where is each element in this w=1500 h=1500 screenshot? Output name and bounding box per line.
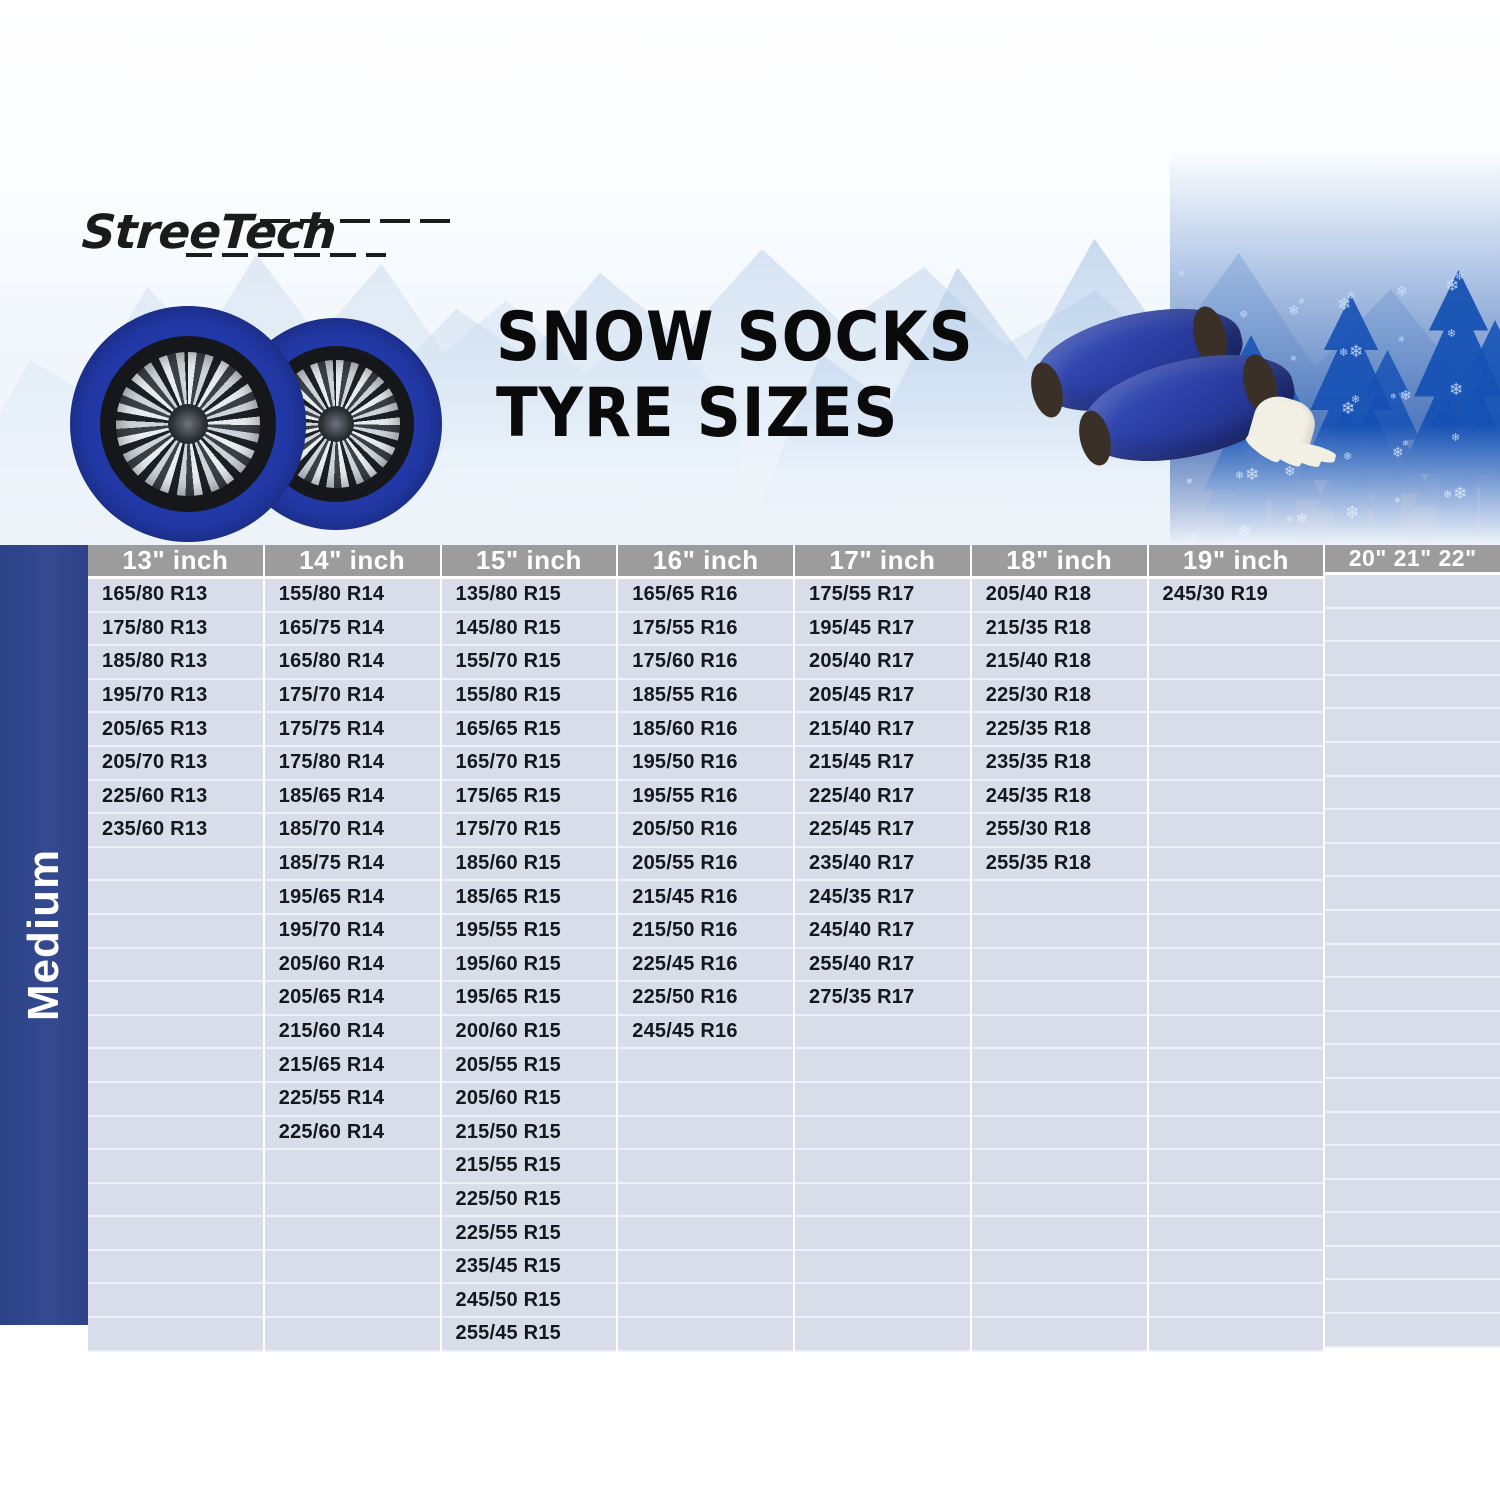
empty-cell (618, 1049, 793, 1083)
tyre-size-cell: 245/50 R15 (442, 1284, 617, 1318)
snowflake-icon: ❄ (1455, 272, 1464, 283)
tyre-size-cell: 195/70 R14 (265, 915, 440, 949)
tyre-size-cell: 235/35 R18 (972, 747, 1147, 781)
empty-cell (972, 915, 1147, 949)
tyre-size-cell: 205/70 R13 (88, 747, 263, 781)
tyre-size-cell: 205/45 R17 (795, 680, 970, 714)
tyre-size-cell: 175/55 R17 (795, 579, 970, 613)
tyre-size-cell: 225/60 R13 (88, 781, 263, 815)
tyre-size-cell: 255/35 R18 (972, 848, 1147, 882)
empty-cell (1325, 1247, 1500, 1281)
empty-cell (795, 1184, 970, 1218)
empty-cell (1149, 680, 1324, 714)
empty-cell (972, 881, 1147, 915)
tyre-size-cell: 245/45 R16 (618, 1016, 793, 1050)
tyre-size-cell: 195/55 R16 (618, 781, 793, 815)
empty-cell (1149, 1318, 1324, 1352)
empty-cell (88, 1217, 263, 1251)
table-column-6: 18" inch205/40 R18215/35 R18215/40 R1822… (972, 545, 1149, 1325)
empty-cell (265, 1150, 440, 1184)
empty-cell (795, 1318, 970, 1352)
tyre-size-cell: 175/80 R14 (265, 747, 440, 781)
column-header: 18" inch (972, 545, 1147, 579)
tyre-size-cell: 165/65 R16 (618, 579, 793, 613)
column-header: 15" inch (442, 545, 617, 579)
column-body: 245/30 R19 (1149, 579, 1324, 1352)
tyre-size-cell: 225/45 R17 (795, 814, 970, 848)
front-hub-icon (168, 404, 208, 444)
tyre-size-cell: 245/40 R17 (795, 915, 970, 949)
empty-cell (1325, 642, 1500, 676)
column-header: 14" inch (265, 545, 440, 579)
tyre-size-cell: 205/40 R17 (795, 646, 970, 680)
empty-cell (1325, 676, 1500, 710)
column-header: 19" inch (1149, 545, 1324, 579)
empty-cell (972, 1217, 1147, 1251)
tyre-size-cell: 215/40 R18 (972, 646, 1147, 680)
tyre-size-cell: 205/65 R14 (265, 982, 440, 1016)
empty-cell (972, 1318, 1147, 1352)
empty-cell (1149, 713, 1324, 747)
tyre-size-cell: 255/30 R18 (972, 814, 1147, 848)
empty-cell (1149, 1284, 1324, 1318)
empty-cell (1325, 709, 1500, 743)
tyre-size-cell: 275/35 R17 (795, 982, 970, 1016)
snow-socks-product-image (1030, 300, 1350, 485)
tyre-size-cell: 185/70 R14 (265, 814, 440, 848)
tyre-size-cell: 225/60 R14 (265, 1117, 440, 1151)
empty-cell (795, 1083, 970, 1117)
tyre-size-cell: 185/65 R15 (442, 881, 617, 915)
wheels-product-image (62, 300, 462, 545)
size-category-sidebar: Medium (0, 545, 88, 1325)
tyre-size-cell: 145/80 R15 (442, 613, 617, 647)
logo-dash-top-icon (260, 219, 450, 223)
tyre-size-cell: 215/50 R16 (618, 915, 793, 949)
empty-cell (618, 1184, 793, 1218)
tyre-size-table: Medium 13" inch165/80 R13175/80 R13185/8… (0, 545, 1500, 1325)
column-body (1325, 575, 1500, 1348)
tyre-size-cell: 185/55 R16 (618, 680, 793, 714)
empty-cell (972, 1184, 1147, 1218)
empty-cell (618, 1150, 793, 1184)
tyre-size-cell: 195/65 R15 (442, 982, 617, 1016)
column-body: 165/80 R13175/80 R13185/80 R13195/70 R13… (88, 579, 263, 1352)
title-line-2: TYRE SIZES (496, 376, 964, 452)
tyre-size-cell: 185/75 R14 (265, 848, 440, 882)
brand-logo: StreeTech (82, 205, 412, 267)
empty-cell (1149, 949, 1324, 983)
empty-cell (265, 1184, 440, 1218)
empty-cell (1325, 844, 1500, 878)
column-body: 155/80 R14165/75 R14165/80 R14175/70 R14… (265, 579, 440, 1352)
snow-socks-size-chart: ❄❄❄❄❄❄❄❄❄❄❄❄❄❄❄❄❄❄❄❄❄❄❄❄❄❄❄❄❄❄❄❄❄❄❄❄❄❄❄❄… (0, 0, 1500, 1500)
column-header: 13" inch (88, 545, 263, 579)
empty-cell (1325, 945, 1500, 979)
tyre-size-cell: 165/70 R15 (442, 747, 617, 781)
tyre-size-cell: 185/60 R15 (442, 848, 617, 882)
empty-cell (972, 1251, 1147, 1285)
tyre-size-cell: 165/75 R14 (265, 613, 440, 647)
title-line-1: SNOW SOCKS (496, 300, 964, 376)
empty-cell (88, 1150, 263, 1184)
tyre-size-cell: 225/50 R15 (442, 1184, 617, 1218)
table-column-1: 13" inch165/80 R13175/80 R13185/80 R1319… (88, 545, 265, 1325)
tyre-size-cell: 235/60 R13 (88, 814, 263, 848)
table-columns: 13" inch165/80 R13175/80 R13185/80 R1319… (88, 545, 1500, 1325)
tyre-size-cell: 175/70 R14 (265, 680, 440, 714)
empty-cell (1325, 810, 1500, 844)
tyre-size-cell: 185/65 R14 (265, 781, 440, 815)
empty-cell (1149, 1217, 1324, 1251)
table-column-3: 15" inch135/80 R15145/80 R15155/70 R1515… (442, 545, 619, 1325)
empty-cell (88, 1318, 263, 1352)
tyre-size-cell: 215/60 R14 (265, 1016, 440, 1050)
empty-cell (1325, 1280, 1500, 1314)
empty-cell (88, 1083, 263, 1117)
hero-banner: ❄❄❄❄❄❄❄❄❄❄❄❄❄❄❄❄❄❄❄❄❄❄❄❄❄❄❄❄❄❄❄❄❄❄❄❄❄❄❄❄… (0, 0, 1500, 545)
tyre-size-cell: 175/65 R15 (442, 781, 617, 815)
tyre-size-cell: 205/65 R13 (88, 713, 263, 747)
tyre-size-cell: 215/65 R14 (265, 1049, 440, 1083)
empty-cell (88, 1016, 263, 1050)
empty-cell (972, 1016, 1147, 1050)
tyre-size-cell: 200/60 R15 (442, 1016, 617, 1050)
tyre-size-cell: 205/55 R15 (442, 1049, 617, 1083)
tyre-size-cell: 155/80 R15 (442, 680, 617, 714)
empty-cell (1325, 777, 1500, 811)
empty-cell (795, 1150, 970, 1184)
empty-cell (265, 1284, 440, 1318)
snowflake-icon: ❄ (1396, 284, 1408, 298)
tyre-size-cell: 195/45 R17 (795, 613, 970, 647)
tyre-size-cell: 205/60 R14 (265, 949, 440, 983)
tyre-size-cell: 195/60 R15 (442, 949, 617, 983)
tyre-size-cell: 195/55 R15 (442, 915, 617, 949)
empty-cell (1149, 1184, 1324, 1218)
snowflake-icon: ❄ (1449, 381, 1463, 398)
tyre-size-cell: 225/55 R15 (442, 1217, 617, 1251)
tyre-size-cell: 175/60 R16 (618, 646, 793, 680)
tyre-size-cell: 255/40 R17 (795, 949, 970, 983)
column-header: 16" inch (618, 545, 793, 579)
empty-cell (618, 1117, 793, 1151)
tyre-size-cell: 195/70 R13 (88, 680, 263, 714)
tyre-size-cell: 205/55 R16 (618, 848, 793, 882)
empty-cell (88, 915, 263, 949)
tyre-size-cell: 195/50 R16 (618, 747, 793, 781)
tyre-size-cell: 225/40 R17 (795, 781, 970, 815)
tyre-size-cell: 245/30 R19 (1149, 579, 1324, 613)
tyre-size-cell: 225/45 R16 (618, 949, 793, 983)
table-column-5: 17" inch175/55 R17195/45 R17205/40 R1720… (795, 545, 972, 1325)
empty-cell (795, 1251, 970, 1285)
empty-cell (1325, 978, 1500, 1012)
empty-cell (1325, 1012, 1500, 1046)
empty-cell (972, 1049, 1147, 1083)
empty-cell (1325, 1180, 1500, 1214)
empty-cell (265, 1217, 440, 1251)
tyre-size-cell: 175/70 R15 (442, 814, 617, 848)
empty-cell (1149, 1016, 1324, 1050)
table-column-8: 20" 21" 22" (1325, 545, 1500, 1325)
empty-cell (88, 881, 263, 915)
tyre-size-cell: 215/45 R16 (618, 881, 793, 915)
empty-cell (972, 1117, 1147, 1151)
empty-cell (1149, 781, 1324, 815)
tyre-size-cell: 235/40 R17 (795, 848, 970, 882)
empty-cell (1149, 814, 1324, 848)
empty-cell (1325, 575, 1500, 609)
empty-cell (972, 1284, 1147, 1318)
empty-cell (88, 1117, 263, 1151)
tyre-size-cell: 245/35 R17 (795, 881, 970, 915)
tyre-size-cell: 205/40 R18 (972, 579, 1147, 613)
empty-cell (1149, 915, 1324, 949)
column-body: 175/55 R17195/45 R17205/40 R17205/45 R17… (795, 579, 970, 1352)
empty-cell (618, 1318, 793, 1352)
empty-cell (1325, 1045, 1500, 1079)
empty-cell (1149, 848, 1324, 882)
empty-cell (88, 982, 263, 1016)
empty-cell (88, 1049, 263, 1083)
column-body: 165/65 R16175/55 R16175/60 R16185/55 R16… (618, 579, 793, 1352)
empty-cell (1149, 1150, 1324, 1184)
empty-cell (1149, 646, 1324, 680)
tyre-size-cell: 185/80 R13 (88, 646, 263, 680)
empty-cell (1325, 877, 1500, 911)
empty-cell (265, 1251, 440, 1285)
tyre-size-cell: 205/60 R15 (442, 1083, 617, 1117)
empty-cell (1325, 1079, 1500, 1113)
tyre-size-cell: 225/30 R18 (972, 680, 1147, 714)
empty-cell (618, 1083, 793, 1117)
empty-cell (972, 949, 1147, 983)
empty-cell (1149, 1049, 1324, 1083)
tyre-size-cell: 205/50 R16 (618, 814, 793, 848)
tyre-size-cell: 165/65 R15 (442, 713, 617, 747)
empty-cell (795, 1117, 970, 1151)
empty-cell (972, 1150, 1147, 1184)
empty-cell (88, 1184, 263, 1218)
empty-cell (1325, 609, 1500, 643)
table-column-4: 16" inch165/65 R16175/55 R16175/60 R1618… (618, 545, 795, 1325)
empty-cell (1325, 1213, 1500, 1247)
table-column-7: 19" inch245/30 R19 (1149, 545, 1326, 1325)
snowflake-icon: ❄ (1351, 395, 1360, 406)
tyre-size-cell: 215/55 R15 (442, 1150, 617, 1184)
tyre-size-cell: 175/55 R16 (618, 613, 793, 647)
tyre-size-cell: 185/60 R16 (618, 713, 793, 747)
empty-cell (795, 1217, 970, 1251)
snowflake-icon: ❄ (1178, 270, 1185, 278)
empty-cell (1149, 1251, 1324, 1285)
empty-cell (618, 1284, 793, 1318)
tyre-size-cell: 175/75 R14 (265, 713, 440, 747)
snowflake-icon: ❄ (1398, 336, 1405, 344)
empty-cell (795, 1049, 970, 1083)
empty-cell (1149, 747, 1324, 781)
tyre-size-cell: 155/70 R15 (442, 646, 617, 680)
column-body: 205/40 R18215/35 R18215/40 R18225/30 R18… (972, 579, 1147, 1352)
page-title: SNOW SOCKS TYRE SIZES (496, 300, 1016, 452)
empty-cell (88, 848, 263, 882)
tyre-size-cell: 165/80 R14 (265, 646, 440, 680)
empty-cell (1149, 613, 1324, 647)
tyre-size-cell: 215/50 R15 (442, 1117, 617, 1151)
empty-cell (972, 982, 1147, 1016)
empty-cell (618, 1217, 793, 1251)
logo-dash-mid-icon (186, 253, 386, 257)
empty-cell (618, 1251, 793, 1285)
column-body: 135/80 R15145/80 R15155/70 R15155/80 R15… (442, 579, 617, 1352)
size-category-label: Medium (19, 849, 69, 1021)
snowflake-icon: ❄ (1447, 329, 1456, 340)
empty-cell (1325, 911, 1500, 945)
empty-cell (795, 1284, 970, 1318)
empty-cell (88, 1284, 263, 1318)
empty-cell (88, 949, 263, 983)
tyre-size-cell: 225/35 R18 (972, 713, 1147, 747)
empty-cell (1325, 1146, 1500, 1180)
empty-cell (265, 1318, 440, 1352)
tyre-size-cell: 245/35 R18 (972, 781, 1147, 815)
column-header: 17" inch (795, 545, 970, 579)
tyre-size-cell: 255/45 R15 (442, 1318, 617, 1352)
empty-cell (1325, 743, 1500, 777)
empty-cell (1325, 1314, 1500, 1348)
tyre-size-cell: 225/55 R14 (265, 1083, 440, 1117)
tyre-size-cell: 155/80 R14 (265, 579, 440, 613)
tyre-size-cell: 215/45 R17 (795, 747, 970, 781)
tyre-size-cell: 235/45 R15 (442, 1251, 617, 1285)
tyre-size-cell: 175/80 R13 (88, 613, 263, 647)
empty-cell (972, 1083, 1147, 1117)
empty-cell (88, 1251, 263, 1285)
tyre-size-cell: 215/35 R18 (972, 613, 1147, 647)
tyre-size-cell: 135/80 R15 (442, 579, 617, 613)
column-header: 20" 21" 22" (1325, 545, 1500, 575)
table-column-2: 14" inch155/80 R14165/75 R14165/80 R1417… (265, 545, 442, 1325)
empty-cell (795, 1016, 970, 1050)
empty-cell (1325, 1113, 1500, 1147)
empty-cell (1149, 982, 1324, 1016)
tyre-size-cell: 215/40 R17 (795, 713, 970, 747)
empty-cell (1149, 1117, 1324, 1151)
snowflake-icon: ❄ (1349, 343, 1363, 360)
rear-hub-icon (318, 406, 354, 442)
tyre-size-cell: 225/50 R16 (618, 982, 793, 1016)
empty-cell (1149, 881, 1324, 915)
snowflake-icon: ❄ (1400, 388, 1412, 402)
tyre-size-cell: 195/65 R14 (265, 881, 440, 915)
empty-cell (1149, 1083, 1324, 1117)
tyre-size-cell: 165/80 R13 (88, 579, 263, 613)
snowflake-icon: ❄ (1390, 393, 1397, 401)
